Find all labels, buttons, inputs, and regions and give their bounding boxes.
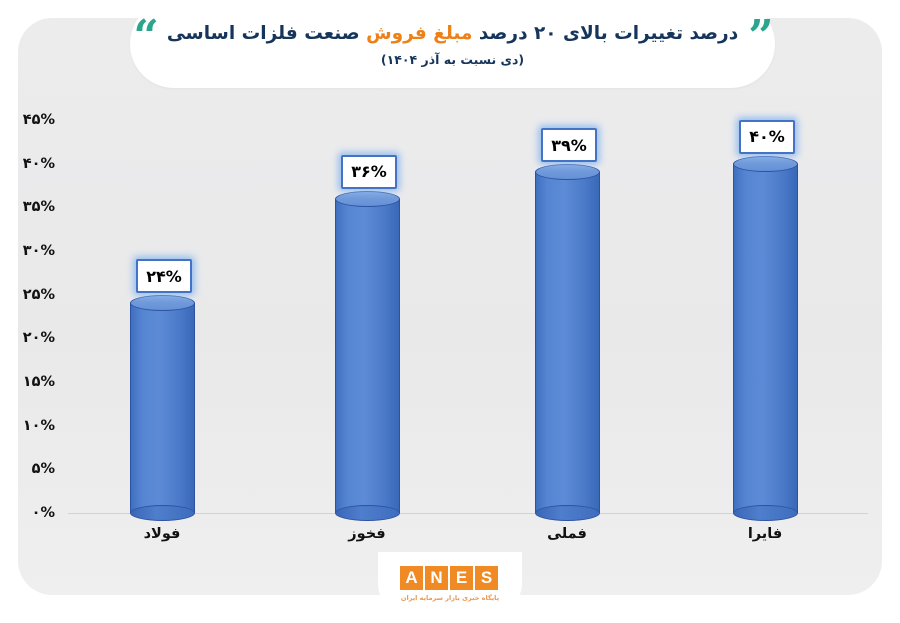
logo-letter-s: S bbox=[475, 566, 498, 590]
logo-letter-e: E bbox=[450, 566, 473, 590]
logo-letter-a: A bbox=[400, 566, 423, 590]
title-row: “ درصد تغییرات بالای ۲۰ درصد مبلغ فروش ص… bbox=[130, 21, 775, 45]
page-title: درصد تغییرات بالای ۲۰ درصد مبلغ فروش صنع… bbox=[167, 23, 738, 44]
quote-close-icon: ” bbox=[748, 25, 771, 49]
page-subtitle: (دی نسبت به آذر ۱۴۰۴) bbox=[381, 52, 524, 67]
title-accent-segment: مبلغ فروش bbox=[366, 23, 472, 44]
title-plate: “ درصد تغییرات بالای ۲۰ درصد مبلغ فروش ص… bbox=[130, 0, 775, 88]
sena-logo: SENA bbox=[400, 566, 498, 590]
logo-letter-n: N bbox=[425, 566, 448, 590]
title-segment-1: درصد تغییرات بالای ۲۰ درصد bbox=[479, 23, 738, 44]
title-segment-2: صنعت فلزات اساسی bbox=[167, 23, 360, 44]
quote-open-icon: “ bbox=[134, 25, 157, 49]
chart-page: “ درصد تغییرات بالای ۲۰ درصد مبلغ فروش ص… bbox=[0, 0, 900, 623]
logo-tagline: پایگاه خبری بازار سرمایه ایران bbox=[388, 594, 512, 602]
chart-card bbox=[18, 18, 882, 595]
